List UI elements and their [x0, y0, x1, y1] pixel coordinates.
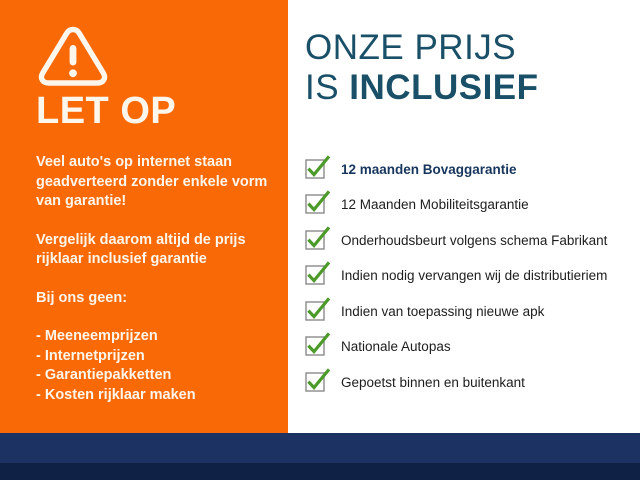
headline: ONZE PRIJS IS INCLUSIEF [305, 28, 539, 108]
list-item: 12 maanden Bovaggarantie [303, 152, 638, 188]
list-item: - Kosten rijklaar maken [36, 386, 276, 406]
green-check-icon [305, 302, 325, 322]
inclusive-panel: ONZE PRIJS IS INCLUSIEF 12 maanden Bovag… [288, 0, 640, 433]
promo-banner: LET OP Veel auto's op internet staan gea… [0, 0, 640, 480]
list-item-label: Gepoetst binnen en buitenkant [341, 375, 525, 391]
warning-paragraph-1: Veel auto's op internet staan geadvertee… [36, 153, 276, 212]
list-item: Indien van toepassing nieuwe apk [303, 294, 638, 330]
green-check-icon [305, 160, 325, 180]
list-item-label: 12 maanden Bovaggarantie [341, 162, 517, 178]
list-item-label: Onderhoudsbeurt volgens schema Fabrikant [341, 233, 607, 249]
exclusion-list: - Meeneemprijzen - Internetprijzen - Gar… [36, 327, 276, 405]
list-item-label: Indien van toepassing nieuwe apk [341, 304, 544, 320]
green-check-icon [305, 266, 325, 286]
list-item: Onderhoudsbeurt volgens schema Fabrikant [303, 223, 638, 259]
footer-bar-shadow [0, 463, 640, 480]
footer-bar [0, 433, 640, 463]
warning-body: Veel auto's op internet staan geadvertee… [36, 153, 276, 405]
warning-paragraph-2: Vergelijk daarom altijd de prijs rijklaa… [36, 231, 276, 270]
list-item-label: Nationale Autopas [341, 339, 451, 355]
green-check-icon [305, 373, 325, 393]
list-item: Gepoetst binnen en buitenkant [303, 365, 638, 401]
warning-paragraph-3: Bij ons geen: [36, 289, 276, 309]
list-item-label: Indien nodig vervangen wij de distributi… [341, 268, 607, 284]
green-check-icon [305, 195, 325, 215]
page-title: LET OP [36, 92, 176, 130]
green-check-icon [305, 337, 325, 357]
list-item: - Meeneemprijzen [36, 327, 276, 347]
list-item: 12 Maanden Mobiliteitsgarantie [303, 188, 638, 224]
headline-line-2: IS INCLUSIEF [305, 68, 539, 108]
warning-panel: LET OP Veel auto's op internet staan gea… [0, 0, 288, 433]
headline-line-1: ONZE PRIJS [305, 28, 539, 68]
list-item: - Garantiepakketten [36, 366, 276, 386]
green-check-icon [305, 231, 325, 251]
list-item-label: 12 Maanden Mobiliteitsgarantie [341, 197, 529, 213]
list-item: - Internetprijzen [36, 347, 276, 367]
list-item: Indien nodig vervangen wij de distributi… [303, 259, 638, 295]
list-item: Nationale Autopas [303, 330, 638, 366]
inclusive-checklist: 12 maanden Bovaggarantie 12 Maanden Mobi… [303, 152, 638, 401]
headline-line-2-light: IS [305, 68, 349, 107]
warning-triangle-icon [38, 24, 108, 86]
headline-line-2-strong: INCLUSIEF [349, 68, 538, 107]
